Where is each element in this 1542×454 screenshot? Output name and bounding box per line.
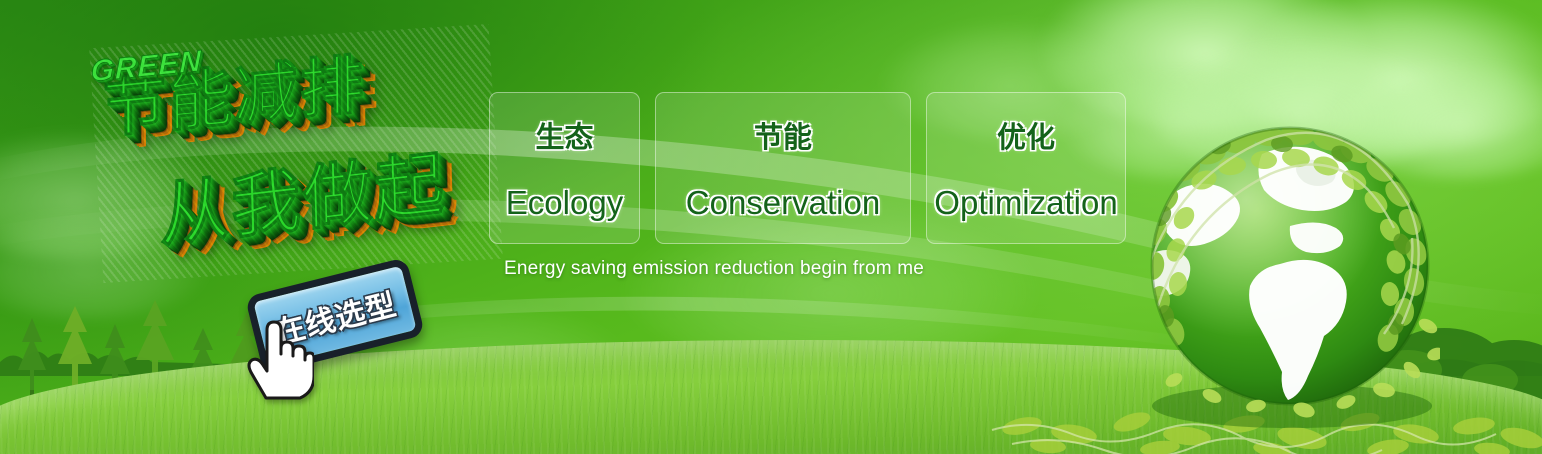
feature-card-en-label: Optimization <box>934 184 1117 222</box>
feature-card-cn-label: 优化 <box>997 114 1055 156</box>
feature-card-optimization[interactable]: 优化 Optimization <box>926 92 1126 244</box>
feature-card-row: 生态 Ecology 节能 Conservation 优化 Optimizati… <box>489 92 1126 244</box>
headline-3d-art: 节能减排 GREEN 从我做起 <box>89 24 503 283</box>
leafy-earth-globe <box>1140 118 1440 428</box>
feature-card-cn-label: 生态 <box>535 114 593 156</box>
feature-card-cn-label: 节能 <box>754 114 812 156</box>
tagline-text: Energy saving emission reduction begin f… <box>504 258 924 280</box>
hand-pointer-icon <box>240 318 314 402</box>
feature-card-en-label: Conservation <box>686 184 880 222</box>
headline-line2-cn: 从我做起 <box>158 127 447 261</box>
feature-card-en-label: Ecology <box>506 184 623 222</box>
eco-promo-banner: 节能减排 GREEN 从我做起 生态 Ecology 节能 Conservati… <box>0 0 1542 454</box>
feature-card-conservation[interactable]: 节能 Conservation <box>655 92 911 244</box>
feature-card-ecology[interactable]: 生态 Ecology <box>489 92 640 244</box>
